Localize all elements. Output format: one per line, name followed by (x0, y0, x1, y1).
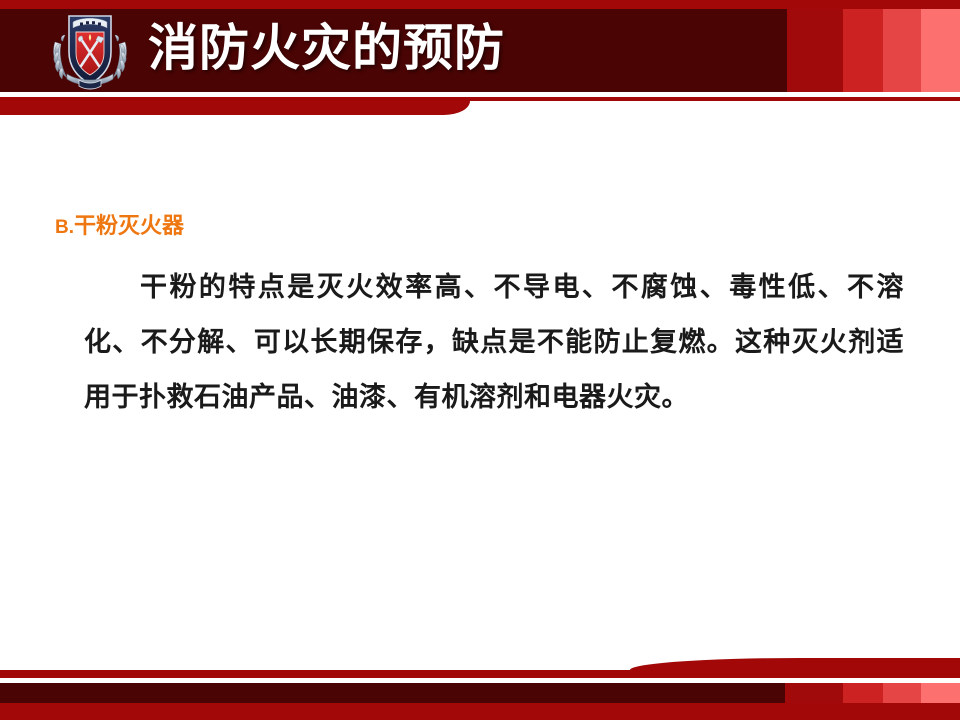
slide-body: B.干粉灭火器 干粉的特点是灭火效率高、不导电、不腐蚀、毒性低、不溶化、不分解、… (0, 120, 960, 650)
footer-stripe-2 (883, 683, 921, 703)
header-accent-block (787, 9, 843, 92)
slide-footer (0, 650, 960, 720)
section-heading-letter: B. (55, 217, 74, 238)
footer-accent-block (785, 683, 843, 703)
section-heading-text: 干粉灭火器 (74, 213, 184, 238)
footer-bottom-strip (0, 703, 960, 720)
fire-service-badge-icon (49, 8, 131, 92)
page-title: 消防火灾的预防 (148, 17, 505, 79)
section-heading: B.干粉灭火器 (55, 208, 184, 240)
footer-swoosh-fill (820, 658, 960, 670)
header-swoosh-bar (0, 101, 470, 115)
footer-dark-plate (0, 683, 785, 703)
footer-stripe-1 (843, 683, 883, 703)
header-stripe-1 (843, 9, 883, 92)
header-stripe-3 (921, 9, 960, 92)
header-top-strip (0, 0, 960, 9)
footer-stripe-3 (921, 683, 960, 703)
header-stripe-2 (883, 9, 921, 92)
footer-swoosh-curve (630, 658, 830, 670)
body-paragraph: 干粉的特点是灭火效率高、不导电、不腐蚀、毒性低、不溶化、不分解、可以长期保存，缺… (84, 260, 904, 425)
slide-canvas: 消防火灾的预防 B.干粉灭火器 干粉的特点是灭火效率高、不导电、不腐蚀、毒性低、… (0, 0, 960, 720)
slide-header: 消防火灾的预防 (0, 0, 960, 96)
